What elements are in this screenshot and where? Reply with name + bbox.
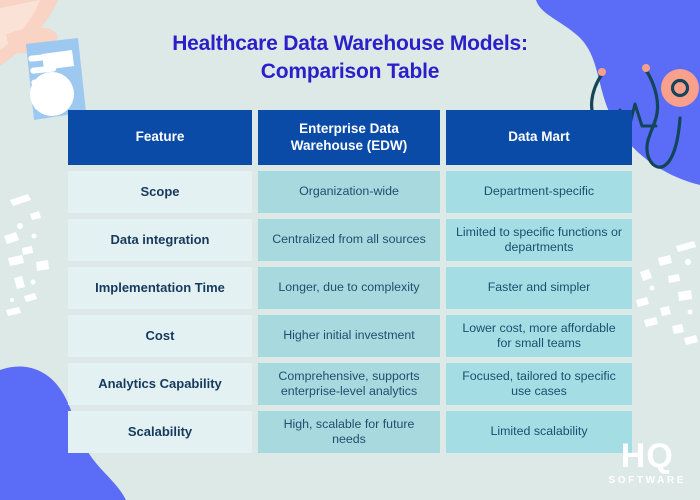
row-mart-value: Focused, tailored to specific use cases <box>446 363 632 405</box>
table-row: Scalability High, scalable for future ne… <box>68 411 632 453</box>
row-mart-value: Department-specific <box>446 171 632 213</box>
brand-logo-mark: HQ <box>609 439 686 473</box>
table-header-feature: Feature <box>68 110 252 165</box>
page-title-line-1: Healthcare Data Warehouse Models: <box>0 30 700 58</box>
brand-logo: HQ SOFTWARE <box>609 439 686 486</box>
row-edw-value: Longer, due to complexity <box>258 267 440 309</box>
row-edw-value: Comprehensive, supports enterprise-level… <box>258 363 440 405</box>
row-mart-value: Limited scalability <box>446 411 632 453</box>
table-row: Data integration Centralized from all so… <box>68 219 632 261</box>
row-feature-label: Analytics Capability <box>68 363 252 405</box>
row-edw-value: High, scalable for future needs <box>258 411 440 453</box>
page-title: Healthcare Data Warehouse Models: Compar… <box>0 30 700 87</box>
row-mart-value: Limited to specific functions or departm… <box>446 219 632 261</box>
comparison-table: Feature Enterprise Data Warehouse (EDW) … <box>68 110 632 453</box>
brand-logo-subtitle: SOFTWARE <box>609 475 686 486</box>
row-mart-value: Faster and simpler <box>446 267 632 309</box>
table-row: Scope Organization-wide Department-speci… <box>68 171 632 213</box>
table-header-edw-line-1: Enterprise Data <box>299 121 399 136</box>
table-header-row: Feature Enterprise Data Warehouse (EDW) … <box>68 110 632 165</box>
table-row: Analytics Capability Comprehensive, supp… <box>68 363 632 405</box>
row-feature-label: Scalability <box>68 411 252 453</box>
row-feature-label: Data integration <box>68 219 252 261</box>
table-header-edw: Enterprise Data Warehouse (EDW) <box>258 110 440 165</box>
row-edw-value: Higher initial investment <box>258 315 440 357</box>
row-feature-label: Cost <box>68 315 252 357</box>
row-feature-label: Implementation Time <box>68 267 252 309</box>
table-row: Implementation Time Longer, due to compl… <box>68 267 632 309</box>
row-edw-value: Centralized from all sources <box>258 219 440 261</box>
page-title-line-2: Comparison Table <box>0 58 700 86</box>
row-mart-value: Lower cost, more affordable for small te… <box>446 315 632 357</box>
table-header-data-mart: Data Mart <box>446 110 632 165</box>
row-feature-label: Scope <box>68 171 252 213</box>
table-header-edw-line-2: Warehouse (EDW) <box>291 138 408 153</box>
table-row: Cost Higher initial investment Lower cos… <box>68 315 632 357</box>
row-edw-value: Organization-wide <box>258 171 440 213</box>
